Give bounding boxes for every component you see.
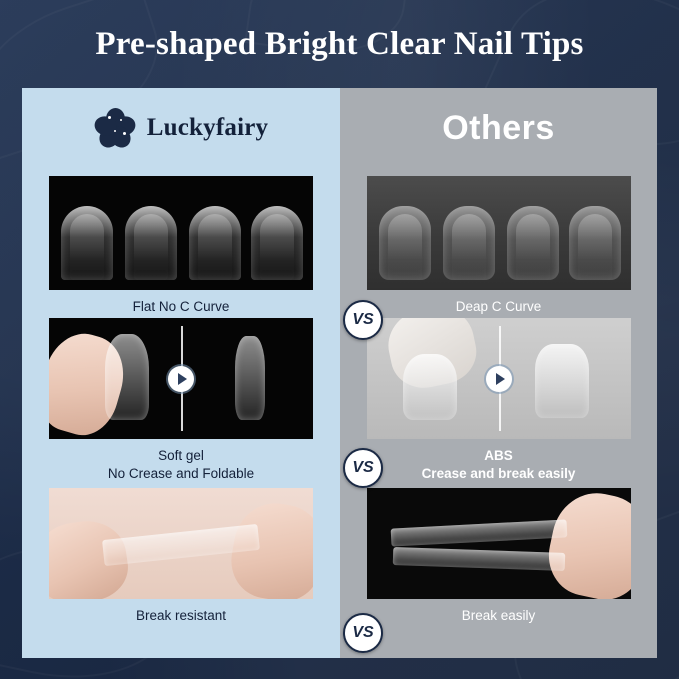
vs-badge: VS: [343, 613, 383, 653]
left-caption-2-line1: Soft gel: [22, 447, 340, 464]
left-row-1: Flat No C Curve: [22, 176, 340, 315]
flower-logo-icon: [94, 107, 138, 149]
left-row-3: Break resistant: [22, 488, 340, 624]
right-row-1: Deap C Curve: [340, 176, 657, 315]
vs-badge: VS: [343, 300, 383, 340]
right-image-break-easily: [367, 488, 631, 599]
others-column: Others Deap C Curve: [340, 88, 657, 658]
left-caption-3: Break resistant: [22, 607, 340, 624]
right-row-2: ABS Crease and break easily: [340, 318, 657, 482]
poster-root: Pre-shaped Bright Clear Nail Tips Luckyf…: [0, 0, 679, 679]
right-image-abs: [367, 318, 631, 439]
brand-column: Luckyfairy Flat No C Curve: [22, 88, 340, 658]
left-image-flat-c-curve: [49, 176, 313, 290]
left-caption-2-line2: No Crease and Foldable: [22, 465, 340, 482]
left-image-soft-gel: [49, 318, 313, 439]
comparison-panel: Luckyfairy Flat No C Curve: [22, 88, 657, 658]
others-heading: Others: [340, 88, 657, 168]
brand-header: Luckyfairy: [22, 88, 340, 168]
left-image-break-resistant: [49, 488, 313, 599]
right-image-deep-c-curve: [367, 176, 631, 290]
page-title: Pre-shaped Bright Clear Nail Tips: [0, 26, 679, 63]
right-row-3: Break easily: [340, 488, 657, 624]
left-caption-1: Flat No C Curve: [22, 298, 340, 315]
play-icon: [168, 366, 194, 392]
right-caption-3: Break easily: [340, 607, 657, 624]
left-row-2: Soft gel No Crease and Foldable: [22, 318, 340, 482]
right-caption-2-line2: Crease and break easily: [340, 465, 657, 482]
vs-badge: VS: [343, 448, 383, 488]
right-caption-1: Deap C Curve: [340, 298, 657, 315]
brand-name: Luckyfairy: [147, 114, 268, 142]
play-icon: [486, 366, 512, 392]
right-caption-2-line1: ABS: [340, 447, 657, 464]
